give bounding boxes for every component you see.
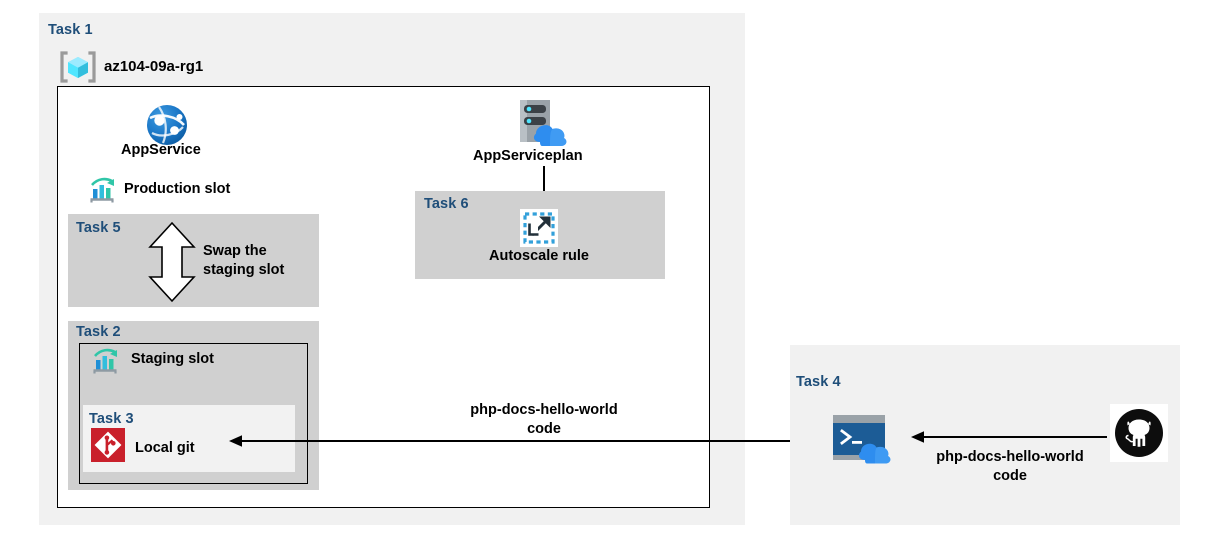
- swap-text-line1: Swap the: [203, 243, 267, 259]
- staging-slot-label: Staging slot: [131, 351, 214, 367]
- task2-label: Task 2: [76, 324, 121, 340]
- deployment-slot-icon-production: [88, 176, 118, 206]
- github-to-cloudshell-arrow-head: [910, 430, 926, 444]
- production-slot-label: Production slot: [124, 181, 230, 197]
- autoscale-rule-label: Autoscale rule: [489, 248, 589, 264]
- right-code-line1: php-docs-hello-world: [936, 449, 1083, 465]
- task5-label: Task 5: [76, 220, 121, 236]
- swap-text-line2: staging slot: [203, 262, 284, 278]
- app-service-icon: [146, 104, 188, 146]
- cloudshell-to-localgit-arrow-line: [240, 440, 818, 442]
- swap-text: Swap thestaging slot: [203, 242, 313, 279]
- app-service-plan-label: AppServiceplan: [473, 148, 583, 164]
- diagram-canvas: Task 1 az104-09a-rg1: [0, 0, 1218, 545]
- app-service-plan-icon: [512, 98, 574, 150]
- app-service-label: AppService: [121, 142, 201, 158]
- task1-label: Task 1: [48, 22, 93, 38]
- center-code-line1: php-docs-hello-world: [470, 402, 617, 418]
- cloudshell-to-localgit-arrow-head: [228, 434, 244, 448]
- github-icon: [1110, 404, 1168, 462]
- resource-group-icon: [60, 50, 96, 84]
- center-code-edge-label: php-docs-hello-worldcode: [444, 401, 644, 438]
- task6-label: Task 6: [424, 196, 469, 212]
- resource-group-name: az104-09a-rg1: [104, 58, 203, 75]
- local-git-label: Local git: [135, 440, 195, 456]
- task4-label: Task 4: [796, 374, 841, 390]
- center-code-line2: code: [527, 421, 561, 437]
- right-code-line2: code: [993, 468, 1027, 484]
- swap-double-arrow-icon: [146, 221, 198, 303]
- right-code-edge-label: php-docs-hello-worldcode: [910, 448, 1110, 485]
- task3-label: Task 3: [89, 411, 134, 427]
- autoscale-rule-icon: [520, 209, 558, 247]
- git-icon: [91, 428, 125, 462]
- deployment-slot-icon-staging: [91, 347, 121, 377]
- cloud-shell-icon: [833, 415, 899, 467]
- github-to-cloudshell-arrow-line: [922, 436, 1107, 438]
